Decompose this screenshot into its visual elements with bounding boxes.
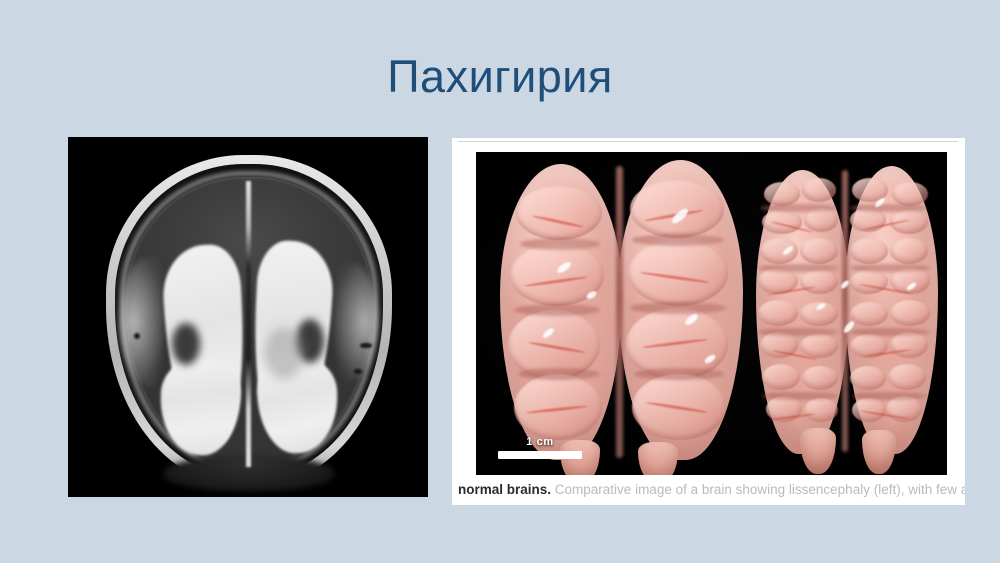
normal-gyrus: [762, 364, 800, 390]
scale-bar-line: [498, 451, 582, 459]
gross-brain-photo: 1 cm: [476, 152, 947, 475]
broad-gyrus: [630, 180, 724, 238]
normal-gyrus: [850, 366, 886, 390]
normal-gyrus: [802, 178, 836, 202]
normal-gyrus: [890, 300, 930, 326]
mri-left-ventricle-notch: [172, 323, 200, 365]
shallow-sulcus: [518, 368, 600, 380]
normal-gyrus: [852, 398, 886, 422]
mri-vessel-flow-void: [360, 343, 372, 348]
figure-caption-text: Comparative image of a brain showing lis…: [551, 482, 965, 497]
normal-sulcus: [850, 328, 930, 336]
card-top-divider: [458, 141, 958, 142]
figure-caption: normal brains. Comparative image of a br…: [458, 482, 965, 499]
normal-gyrus: [802, 366, 838, 390]
shallow-sulcus: [634, 368, 724, 380]
normal-sulcus: [762, 392, 838, 400]
shallow-sulcus: [520, 238, 600, 250]
normal-gyrus: [850, 302, 888, 326]
normal-gyrus: [800, 238, 838, 264]
page-title: Пахигирия: [0, 52, 1000, 102]
gross-brain-comparison-card: 1 cm normal brains. Comparative image of…: [452, 138, 965, 505]
mri-right-ventricle-shading: [264, 327, 304, 379]
normal-gyrus: [888, 364, 926, 390]
normal-gyrus: [850, 270, 888, 294]
slide: Пахигирия: [0, 0, 1000, 563]
lissencephalic-interhemispheric-fissure: [616, 166, 623, 458]
scale-bar-label: 1 cm: [498, 436, 582, 448]
normal-gyrus: [762, 210, 802, 234]
axial-mri-brain: [68, 137, 428, 497]
shallow-sulcus: [630, 302, 726, 314]
scale-bar: 1 cm: [498, 436, 582, 459]
normal-gyrus: [758, 300, 798, 326]
normal-gyrus: [890, 238, 928, 264]
normal-interhemispheric-fissure: [842, 170, 848, 452]
normal-gyrus: [850, 238, 888, 264]
normal-gyrus: [892, 182, 928, 206]
shallow-sulcus: [632, 234, 724, 246]
lissencephalic-cerebellum: [638, 442, 678, 475]
figure-caption-bold: normal brains.: [458, 482, 551, 497]
broad-gyrus: [516, 186, 602, 240]
normal-sulcus: [758, 328, 838, 336]
normal-sulcus: [850, 264, 930, 272]
normal-gyrus: [800, 334, 838, 358]
normal-gyrus: [764, 182, 800, 206]
shallow-sulcus: [514, 304, 600, 316]
normal-gyrus: [760, 238, 798, 264]
normal-sulcus: [760, 204, 838, 212]
normal-sulcus: [852, 392, 928, 400]
normal-gyrus: [800, 270, 838, 294]
mri-vessel-flow-void-2: [354, 369, 362, 374]
normal-gyrus: [804, 398, 838, 422]
mri-stage: [68, 137, 428, 497]
normal-sulcus: [758, 264, 838, 272]
normal-brain-specimen: [756, 164, 938, 454]
mri-focus-dot: [134, 333, 140, 339]
normal-sulcus: [850, 204, 928, 212]
lissencephalic-brain-specimen: [498, 160, 743, 460]
mri-interhemispheric-fissure: [246, 181, 251, 467]
